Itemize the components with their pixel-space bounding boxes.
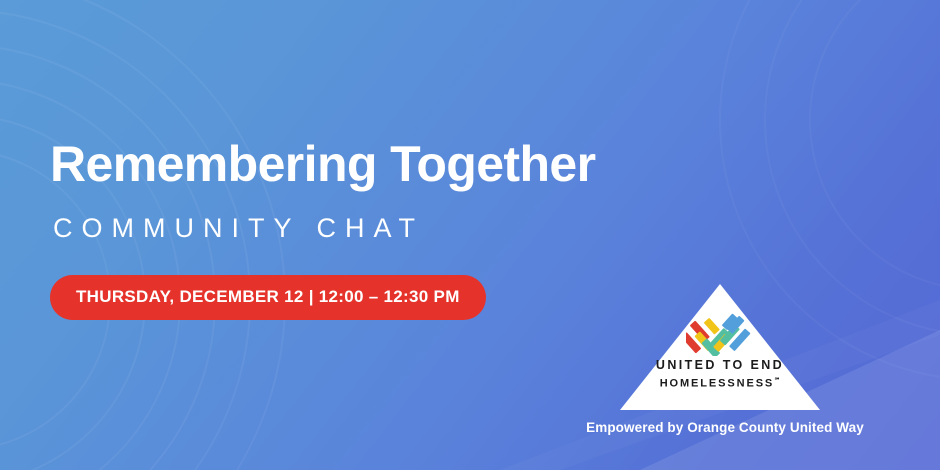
event-banner: Remembering Together COMMUNITY CHAT THUR… bbox=[0, 0, 940, 470]
banner-content: Remembering Together COMMUNITY CHAT THUR… bbox=[50, 138, 670, 320]
empowered-by-text: Empowered by Orange County United Way bbox=[560, 420, 890, 435]
service-mark-icon: ℠ bbox=[774, 378, 780, 384]
logo-line-2-text: HOMELESSNESS bbox=[660, 378, 775, 390]
logo-line-2: HOMELESSNESS℠ bbox=[620, 377, 820, 390]
logo-line-1: UNITED TO END bbox=[620, 358, 820, 372]
organization-logo: UNITED TO END HOMELESSNESS℠ bbox=[620, 284, 820, 410]
page-title: Remembering Together bbox=[50, 138, 670, 191]
banner-subtitle: COMMUNITY CHAT bbox=[53, 213, 670, 244]
logo-wordmark: UNITED TO END HOMELESSNESS℠ bbox=[620, 358, 820, 390]
event-datetime-badge[interactable]: THURSDAY, DECEMBER 12 | 12:00 – 12:30 PM bbox=[50, 275, 486, 320]
united-to-end-homelessness-mark-icon bbox=[686, 312, 754, 356]
